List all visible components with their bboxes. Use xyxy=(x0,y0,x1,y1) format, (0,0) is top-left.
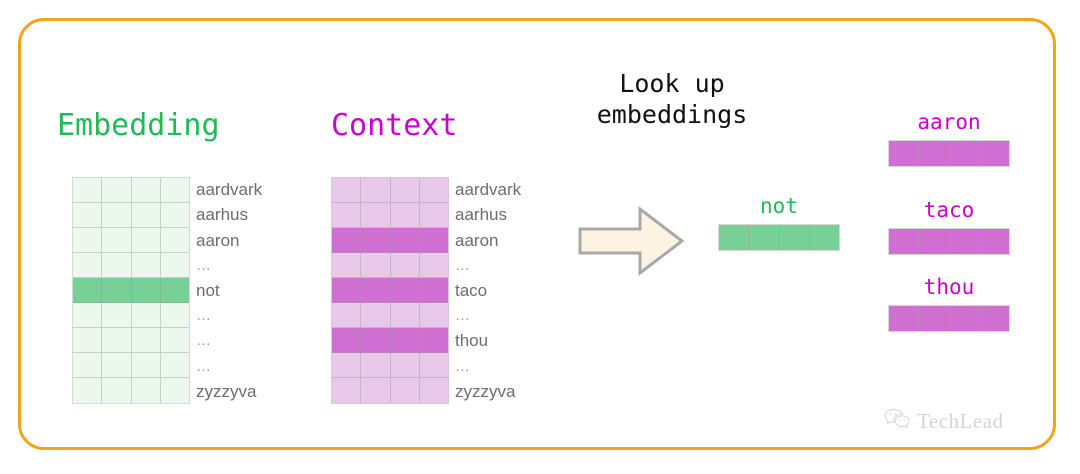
context-matrix-row xyxy=(332,228,448,253)
context-matrix-row xyxy=(332,353,448,378)
vector-thou-cell xyxy=(980,306,1009,331)
embedding-matrix-cell xyxy=(73,253,102,278)
context-matrix-cell xyxy=(361,203,390,228)
context-matrix-cell xyxy=(361,303,390,328)
context-matrix-cell xyxy=(332,278,361,303)
context-matrix-cell xyxy=(391,303,420,328)
embedding-matrix-row xyxy=(73,378,189,403)
context-matrix-title: Context xyxy=(331,108,457,143)
vector-taco-cell xyxy=(950,229,980,254)
context-matrix-row-label: taco xyxy=(455,278,595,303)
embedding-matrix-cell xyxy=(102,278,131,303)
embedding-matrix-cell xyxy=(102,328,131,353)
embedding-matrix-cell xyxy=(132,178,161,203)
embedding-matrix-row-labels: aardvarkaarhusaaron…not………zyzzyva xyxy=(196,177,336,404)
vector-taco-label: taco xyxy=(888,200,1010,221)
context-matrix-cell xyxy=(361,253,390,278)
embedding-matrix-row xyxy=(73,253,189,278)
context-matrix-row-label: aaron xyxy=(455,227,595,252)
embedding-matrix-cell xyxy=(73,178,102,203)
vector-taco-cells xyxy=(888,228,1010,255)
diagram-canvas: Embedding Context Look up embeddings aar… xyxy=(0,0,1080,474)
vector-aaron-cell xyxy=(980,141,1009,166)
embedding-matrix-cell xyxy=(102,228,131,253)
embedding-matrix-cell xyxy=(132,353,161,378)
vector-thou-cell xyxy=(919,306,949,331)
vector-aaron: aaron xyxy=(888,112,1010,167)
context-matrix-cell xyxy=(420,328,448,353)
embedding-matrix-cell xyxy=(102,253,131,278)
embedding-matrix-cell xyxy=(102,303,131,328)
embedding-matrix-row xyxy=(73,203,189,228)
vector-thou-cell xyxy=(889,306,919,331)
vector-not: not xyxy=(718,196,840,251)
context-matrix-row-labels: aardvarkaarhusaaron…taco…thou…zyzzyva xyxy=(455,177,595,404)
embedding-matrix-row xyxy=(73,278,189,303)
context-matrix-row-label: zyzzyva xyxy=(455,379,595,404)
embedding-matrix-row-label: aardvark xyxy=(196,177,336,202)
embedding-matrix-row-label: … xyxy=(196,303,336,328)
embedding-matrix-cell xyxy=(161,378,189,403)
embedding-matrix-cell xyxy=(132,303,161,328)
embedding-matrix-cell xyxy=(102,378,131,403)
context-matrix-cell xyxy=(391,228,420,253)
context-matrix-row-label: … xyxy=(455,354,595,379)
vector-thou-cells xyxy=(888,305,1010,332)
vector-taco: taco xyxy=(888,200,1010,255)
context-matrix-cell xyxy=(332,253,361,278)
embedding-matrix-cell xyxy=(73,228,102,253)
embedding-matrix-cell xyxy=(132,228,161,253)
vector-not-cell xyxy=(749,225,779,250)
context-matrix-cell xyxy=(391,378,420,403)
vector-taco-cell xyxy=(889,229,919,254)
vector-aaron-label: aaron xyxy=(888,112,1010,133)
context-matrix-cell xyxy=(391,253,420,278)
embedding-matrix-row-label: … xyxy=(196,253,336,278)
context-matrix-cell xyxy=(391,353,420,378)
context-matrix-cell xyxy=(420,378,448,403)
context-matrix-cell xyxy=(420,303,448,328)
embedding-matrix-cell xyxy=(161,203,189,228)
context-matrix-cell xyxy=(361,378,390,403)
embedding-matrix-cell xyxy=(132,253,161,278)
context-matrix-cell xyxy=(420,353,448,378)
embedding-matrix-grid xyxy=(72,177,190,404)
context-matrix-row xyxy=(332,303,448,328)
context-matrix-cell xyxy=(361,228,390,253)
embedding-matrix-cell xyxy=(73,328,102,353)
embedding-matrix-cell xyxy=(161,178,189,203)
embedding-matrix-cell xyxy=(102,203,131,228)
vector-taco-cell xyxy=(919,229,949,254)
context-matrix-cell xyxy=(361,278,390,303)
context-matrix-cell xyxy=(332,303,361,328)
embedding-matrix-row xyxy=(73,353,189,378)
context-matrix-cell xyxy=(391,278,420,303)
embedding-matrix-cell xyxy=(161,278,189,303)
context-matrix-row xyxy=(332,278,448,303)
context-matrix-row-label: … xyxy=(455,253,595,278)
context-matrix-row xyxy=(332,328,448,353)
vector-aaron-cell xyxy=(950,141,980,166)
embedding-matrix-cell xyxy=(161,353,189,378)
context-matrix-row-label: thou xyxy=(455,328,595,353)
context-matrix-cell xyxy=(332,228,361,253)
context-matrix-cell xyxy=(332,178,361,203)
context-matrix-cell xyxy=(420,178,448,203)
embedding-matrix-row-label: … xyxy=(196,354,336,379)
embedding-matrix-cell xyxy=(73,378,102,403)
context-matrix-row-label: … xyxy=(455,303,595,328)
context-matrix-cell xyxy=(420,228,448,253)
embedding-matrix-row-label: zyzzyva xyxy=(196,379,336,404)
context-matrix-row xyxy=(332,378,448,403)
context-matrix-cell xyxy=(420,278,448,303)
embedding-matrix-cell xyxy=(102,178,131,203)
context-matrix-cell xyxy=(361,328,390,353)
embedding-matrix-cell xyxy=(161,228,189,253)
vector-aaron-cell xyxy=(889,141,919,166)
context-matrix-row xyxy=(332,178,448,203)
embedding-matrix-cell xyxy=(73,278,102,303)
context-matrix-cell xyxy=(332,203,361,228)
context-matrix-row-label: aarhus xyxy=(455,202,595,227)
context-matrix-row xyxy=(332,253,448,278)
lookup-embeddings-heading: Look up embeddings xyxy=(548,68,796,130)
context-matrix-row-label: aardvark xyxy=(455,177,595,202)
vector-thou: thou xyxy=(888,277,1010,332)
embedding-matrix-cell xyxy=(132,378,161,403)
context-matrix-cell xyxy=(391,328,420,353)
embedding-matrix-row-label: not xyxy=(196,278,336,303)
vector-aaron-cell xyxy=(919,141,949,166)
context-matrix-row xyxy=(332,203,448,228)
embedding-matrix-cell xyxy=(73,203,102,228)
vector-thou-label: thou xyxy=(888,277,1010,298)
vector-not-cell xyxy=(810,225,839,250)
context-matrix-cell xyxy=(391,203,420,228)
embedding-matrix-cell xyxy=(161,253,189,278)
embedding-matrix-row xyxy=(73,328,189,353)
vector-not-cell xyxy=(719,225,749,250)
embedding-matrix-cell xyxy=(161,303,189,328)
wechat-icon xyxy=(884,408,910,435)
embedding-matrix-cell xyxy=(73,303,102,328)
embedding-matrix-row xyxy=(73,178,189,203)
embedding-matrix-cell xyxy=(161,328,189,353)
vector-not-cell xyxy=(780,225,810,250)
embedding-matrix-cell xyxy=(132,203,161,228)
context-matrix-cell xyxy=(332,353,361,378)
vector-taco-cell xyxy=(980,229,1009,254)
context-matrix-cell xyxy=(391,178,420,203)
context-matrix-cell xyxy=(361,353,390,378)
embedding-matrix-title: Embedding xyxy=(57,108,220,143)
context-matrix-cell xyxy=(361,178,390,203)
embedding-matrix-cell xyxy=(73,353,102,378)
context-matrix-grid xyxy=(331,177,449,404)
embedding-matrix-row-label: aarhus xyxy=(196,202,336,227)
embedding-matrix-row xyxy=(73,303,189,328)
context-matrix-cell xyxy=(420,253,448,278)
vector-not-cells xyxy=(718,224,840,251)
context-matrix-cell xyxy=(332,378,361,403)
right-block-arrow-icon xyxy=(578,206,684,276)
watermark-text: TechLead xyxy=(917,409,1003,434)
embedding-matrix-cell xyxy=(102,353,131,378)
embedding-matrix-row-label: … xyxy=(196,328,336,353)
context-matrix-cell xyxy=(332,328,361,353)
vector-aaron-cells xyxy=(888,140,1010,167)
embedding-matrix-cell xyxy=(132,278,161,303)
embedding-matrix-cell xyxy=(132,328,161,353)
vector-thou-cell xyxy=(950,306,980,331)
vector-not-label: not xyxy=(718,196,840,217)
embedding-matrix-row xyxy=(73,228,189,253)
watermark: TechLead xyxy=(884,408,1003,435)
context-matrix-cell xyxy=(420,203,448,228)
embedding-matrix-row-label: aaron xyxy=(196,227,336,252)
